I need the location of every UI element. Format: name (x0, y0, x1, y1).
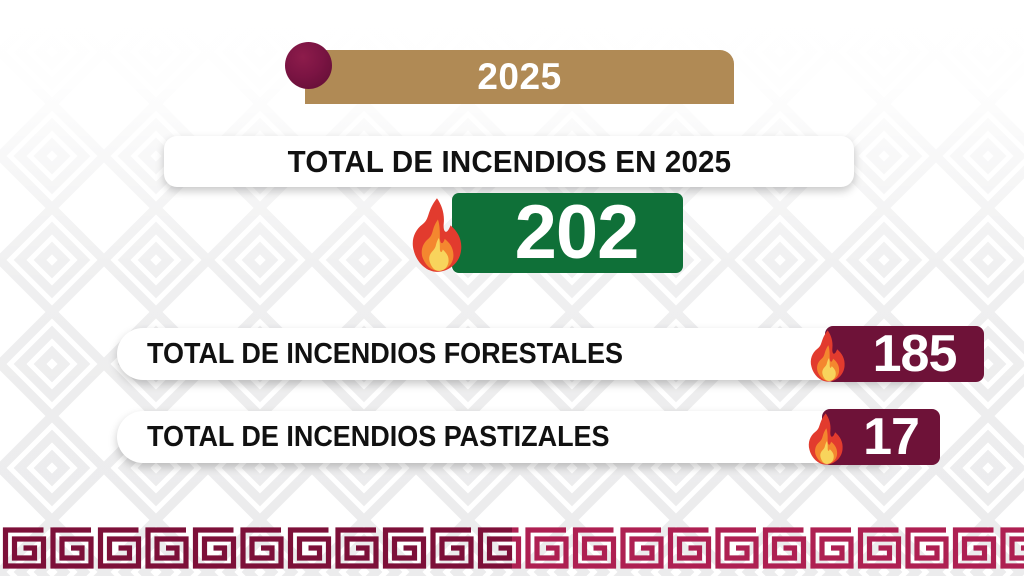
category-label-text: TOTAL DE INCENDIOS FORESTALES (147, 338, 623, 371)
category-label-pill: TOTAL DE INCENDIOS FORESTALES (117, 328, 917, 380)
year-label: 2025 (305, 50, 734, 104)
category-value-text: 17 (843, 411, 919, 463)
total-value-box: 202 (452, 193, 683, 273)
total-value-text: 202 (497, 195, 639, 271)
infographic-stage: 2025 TOTAL DE INCENDIOS EN 2025 202 TOTA… (0, 0, 1024, 576)
total-title-label: TOTAL DE INCENDIOS EN 2025 (287, 144, 731, 180)
greca-spiral-border (0, 520, 1024, 576)
category-value-box: 17 (822, 409, 940, 465)
category-value-text: 185 (853, 328, 957, 380)
category-value-box: 185 (825, 326, 984, 382)
category-row-pastizales: TOTAL DE INCENDIOS PASTIZALES 17 (117, 409, 940, 465)
category-row-forestales: TOTAL DE INCENDIOS FORESTALES 185 (117, 326, 984, 382)
category-label-pill: TOTAL DE INCENDIOS PASTIZALES (117, 411, 887, 463)
year-header: 2025 (305, 50, 734, 104)
category-label-text: TOTAL DE INCENDIOS PASTIZALES (147, 421, 610, 454)
total-title-pill: TOTAL DE INCENDIOS EN 2025 (164, 136, 854, 187)
